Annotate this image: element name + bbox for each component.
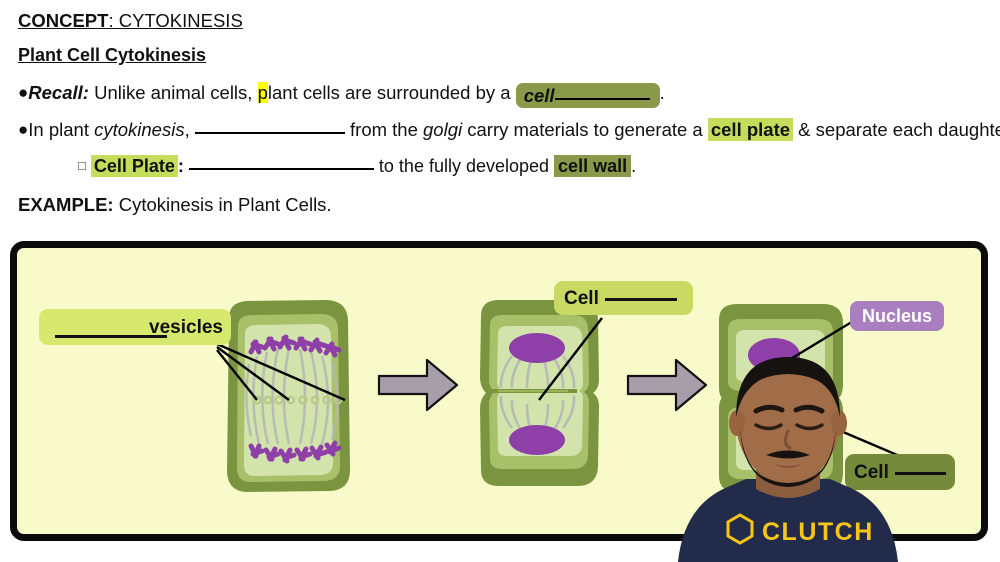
lesson-slide: CONCEPT: CYTOKINESIS Plant Cell Cytokine…: [0, 0, 1000, 562]
square-bullet-icon: □: [78, 158, 86, 173]
callout-cell-plate-label: Cell: [564, 289, 599, 308]
bullet-3-period: .: [631, 156, 636, 176]
concept-label: CONCEPT: [18, 10, 108, 31]
callout-vesicles-label: vesicles: [149, 318, 223, 337]
callout-nucleus: Nucleus: [850, 301, 944, 331]
bullet-2-text-d: carry materials to generate a: [462, 119, 708, 140]
bullet-1-period: .: [660, 82, 665, 103]
recall-label: Recall:: [28, 82, 89, 103]
callout-cell-plate-blank: [605, 298, 677, 301]
callout-vesicles: vesicles: [39, 309, 231, 345]
callout-nucleus-label: Nucleus: [862, 307, 932, 325]
bullet-2-text-c: from the: [345, 119, 423, 140]
instructor-figure: CLUTCH: [672, 355, 904, 562]
cytokinesis-term: cytokinesis: [94, 119, 184, 140]
subheading: Plant Cell Cytokinesis: [18, 45, 206, 66]
bullet-2-text-b: ,: [185, 119, 195, 140]
process-arrow-1: [379, 360, 457, 410]
yellow-highlight-char: p: [258, 82, 268, 103]
golgi-term: golgi: [423, 119, 462, 140]
bullet-3: □ Cell Plate: to the fully developed cel…: [78, 156, 636, 177]
bullet-1: ●Recall: Unlike animal cells, plant cell…: [18, 82, 665, 108]
bullet-3-text-a: to the fully developed: [374, 156, 554, 176]
bullet-2-blank: [195, 132, 345, 134]
cell-blank-chip: cell: [516, 83, 660, 108]
cell-plate-highlight: cell plate: [708, 118, 793, 141]
daughter-nucleus-top: [509, 333, 565, 363]
stage-1-cell: [227, 300, 350, 492]
concept-line: CONCEPT: CYTOKINESIS: [18, 10, 243, 32]
example-label: EXAMPLE:: [18, 194, 114, 215]
cell-chip-word: cell: [524, 85, 555, 106]
example-line: EXAMPLE: Cytokinesis in Plant Cells.: [18, 194, 332, 216]
cell-chip-blank: [555, 98, 650, 100]
bullet-1-text-b: lant cells are surrounded by a: [268, 82, 516, 103]
bullet-marker-icon: ●: [18, 83, 28, 102]
bullet-marker-icon: ●: [18, 120, 28, 139]
bullet-2-text-e: & separate each daughter cell.: [793, 119, 1000, 140]
callout-cell-plate: Cell: [554, 281, 693, 315]
example-text: Cytokinesis in Plant Cells.: [114, 194, 332, 215]
concept-value: : CYTOKINESIS: [108, 10, 242, 31]
instructor-webcam: CLUTCH: [672, 355, 904, 562]
cell-plate-term: Cell Plate: [91, 155, 178, 177]
bullet-1-text-a: Unlike animal cells,: [89, 82, 258, 103]
bullet-2-text-a: In plant: [28, 119, 94, 140]
daughter-nucleus-bottom: [509, 425, 565, 455]
cell-wall-highlight: cell wall: [554, 155, 631, 177]
bullet-3-blank: [189, 168, 374, 170]
bullet-2: ●In plant cytokinesis, from the golgi ca…: [18, 119, 1000, 141]
stage-2-cell: [480, 300, 599, 486]
clutch-logo-text: CLUTCH: [762, 518, 874, 546]
callout-vesicles-blank: [55, 335, 167, 338]
bullet-3-colon: :: [178, 156, 189, 176]
